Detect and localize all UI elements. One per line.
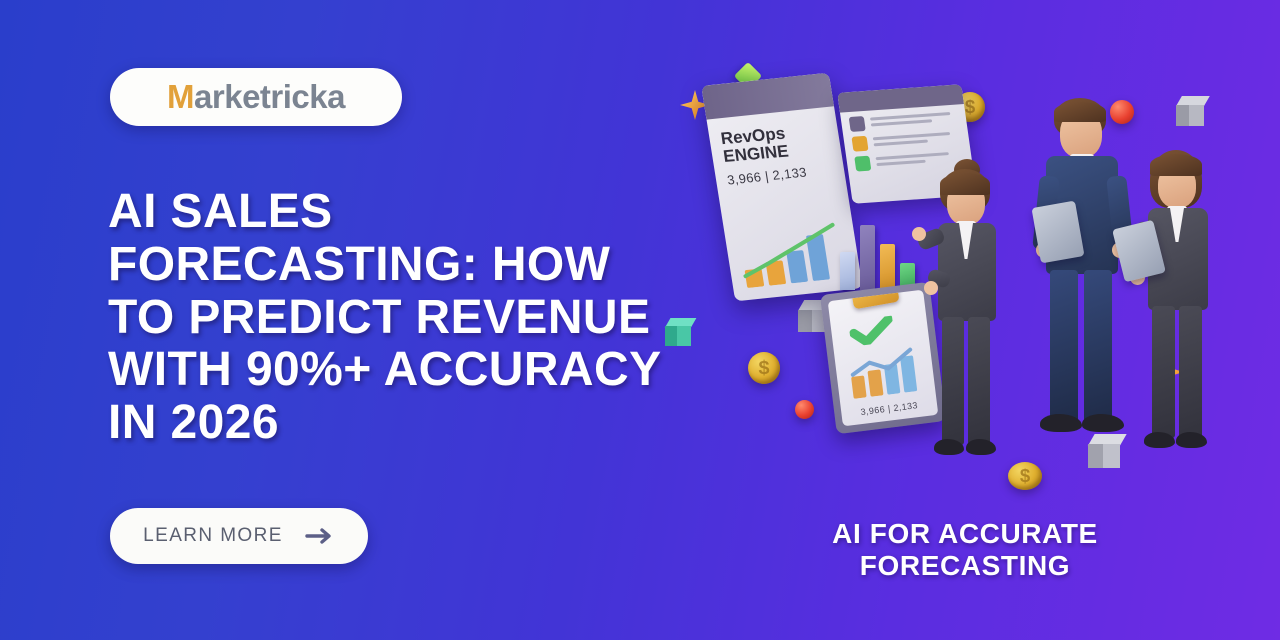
cube-teal-icon — [665, 318, 691, 346]
learn-more-button[interactable]: LEARN MORE — [110, 508, 368, 564]
brand-logo-initial: M — [167, 78, 194, 115]
cube-gray-icon — [1176, 96, 1204, 126]
revops-metrics: 3,966 | 2,133 — [726, 162, 834, 188]
promo-banner: Marketricka AI SALES FORECASTING: HOW TO… — [0, 0, 1280, 640]
headline: AI SALES FORECASTING: HOW TO PREDICT REV… — [108, 186, 688, 450]
illustration-caption: AI FOR ACCURATE FORECASTING — [790, 518, 1140, 583]
checklist-swatch-icon — [849, 116, 866, 132]
learn-more-label: LEARN MORE — [143, 525, 283, 547]
left-content-column: Marketricka AI SALES FORECASTING: HOW TO… — [0, 0, 700, 640]
tablet-device — [1031, 201, 1084, 264]
revops-mini-chart — [736, 216, 851, 288]
sphere-red-icon — [795, 400, 814, 419]
brand-logo-text: Marketricka — [167, 78, 345, 116]
checklist-swatch-icon — [851, 136, 868, 152]
arrow-right-icon — [305, 526, 335, 546]
brand-logo[interactable]: Marketricka — [110, 68, 402, 126]
brand-logo-rest: arketricka — [194, 78, 345, 115]
checklist-swatch-icon — [854, 156, 871, 172]
checkmark-icon — [848, 316, 895, 347]
clipboard-clasp-icon — [851, 290, 899, 310]
person-analyst-woman-right — [1120, 150, 1240, 510]
coin-icon — [748, 352, 780, 384]
person-analyst-woman-left — [912, 165, 1032, 515]
